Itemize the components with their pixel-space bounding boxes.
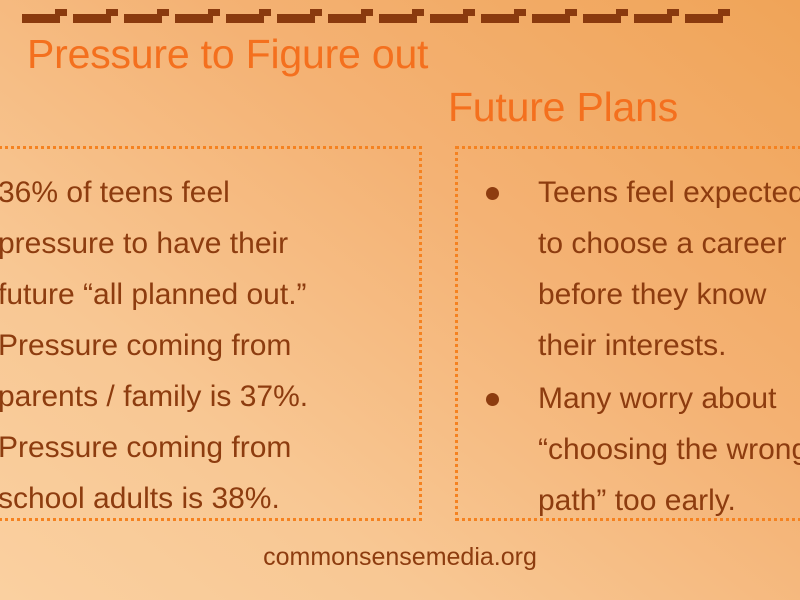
bullet-dot-icon [486, 187, 499, 200]
decorative-dash [532, 14, 570, 23]
decorative-dash [481, 14, 519, 23]
bullet-item: Teens feel expectedto choose a careerbef… [480, 167, 800, 371]
decorative-dash [634, 14, 672, 23]
decorative-dash [22, 14, 60, 23]
bullet-line: before they know [538, 269, 800, 320]
bullet-line: path” too early. [538, 475, 800, 526]
left-panel-line: parents / family is 37%. [0, 371, 418, 422]
top-dashed-rule [0, 0, 800, 34]
right-panel-bullet-list: Teens feel expectedto choose a careerbef… [480, 167, 800, 528]
bullet-dot-icon [486, 393, 499, 406]
page-title-line-2: Future Plans [448, 86, 678, 129]
bullet-line: Many worry about [538, 373, 800, 424]
bullet-line: to choose a career [538, 218, 800, 269]
left-panel-line: Pressure coming from [0, 320, 418, 371]
bullet-line: their interests. [538, 320, 800, 371]
decorative-dash [175, 14, 213, 23]
left-panel-line: Pressure coming from [0, 422, 418, 473]
left-panel-line: school adults is 38%. [0, 473, 418, 524]
decorative-dash [328, 14, 366, 23]
left-content-panel: 36% of teens feelpressure to have theirf… [0, 146, 422, 521]
bullet-line: “choosing the wrong [538, 424, 800, 475]
decorative-dash [685, 14, 723, 23]
bullet-item: Many worry about“choosing the wrongpath”… [480, 373, 800, 526]
decorative-dash [226, 14, 264, 23]
right-content-panel: Teens feel expectedto choose a careerbef… [455, 146, 800, 521]
left-panel-line: future “all planned out.” [0, 269, 418, 320]
decorative-dash [583, 14, 621, 23]
page-title-line-1: Pressure to Figure out [27, 33, 428, 76]
left-panel-line: 36% of teens feel [0, 167, 418, 218]
left-panel-text: 36% of teens feelpressure to have theirf… [0, 167, 418, 524]
source-attribution: commonsensemedia.org [0, 543, 800, 572]
decorative-dash [277, 14, 315, 23]
left-panel-line: pressure to have their [0, 218, 418, 269]
decorative-dash [73, 14, 111, 23]
decorative-dash [430, 14, 468, 23]
bullet-text: Many worry about“choosing the wrongpath”… [538, 373, 800, 526]
decorative-dash [379, 14, 417, 23]
bullet-text: Teens feel expectedto choose a careerbef… [538, 167, 800, 371]
bullet-line: Teens feel expected [538, 167, 800, 218]
decorative-dash [124, 14, 162, 23]
